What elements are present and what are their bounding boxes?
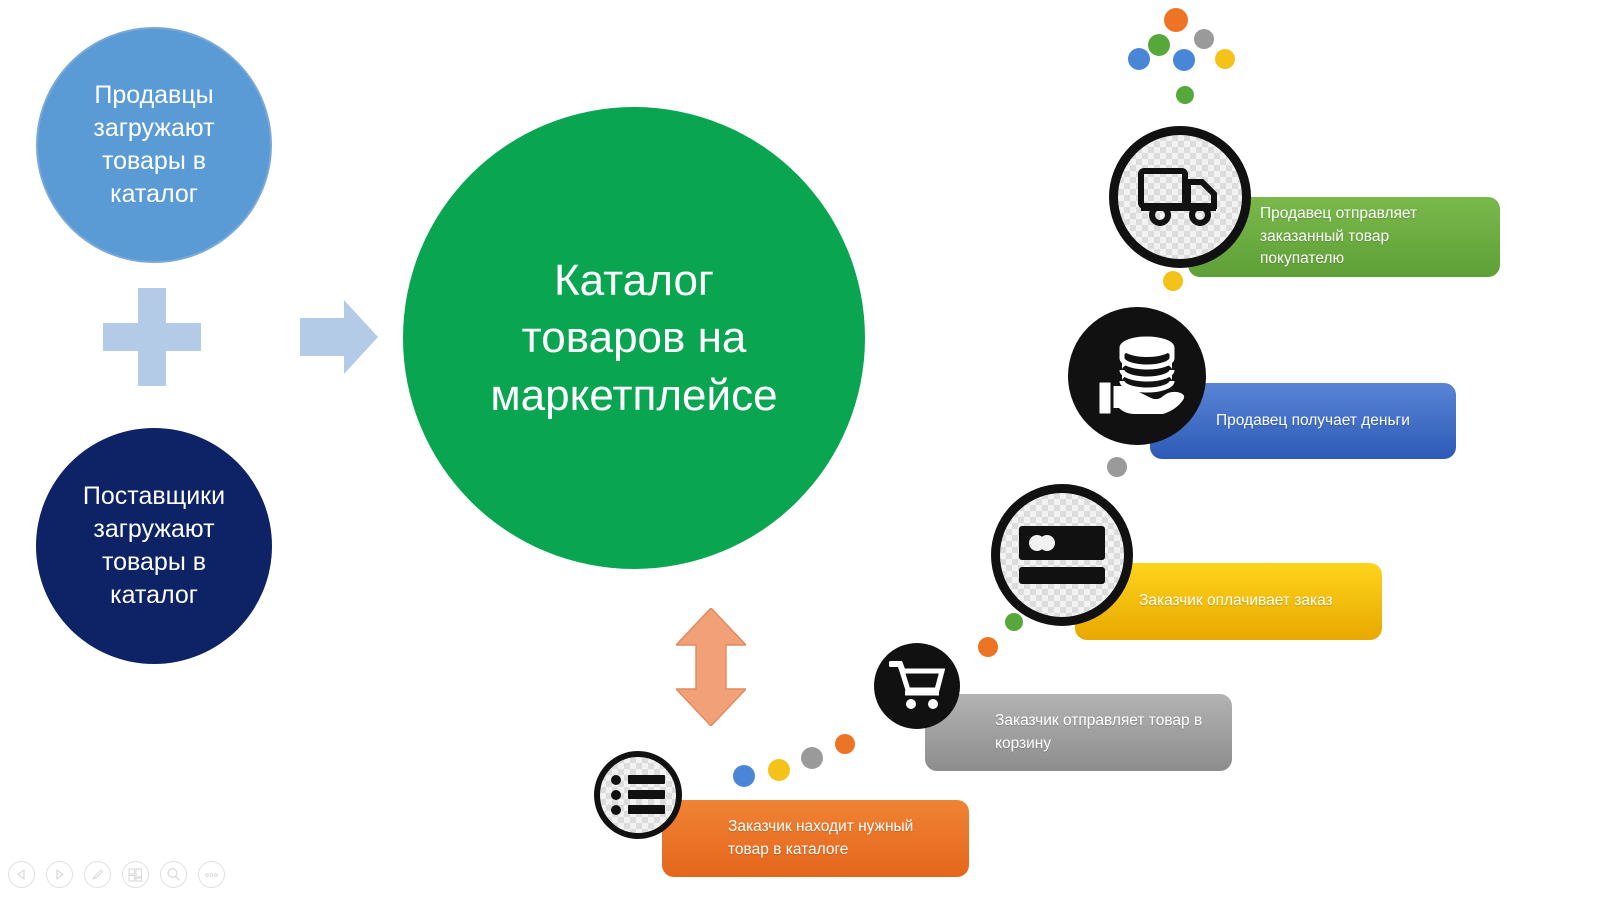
magnifier-icon bbox=[166, 867, 181, 882]
decorative-dot bbox=[1164, 8, 1188, 32]
presentation-toolbar bbox=[8, 861, 225, 888]
input-circle-sellers-label: Продавцы загружают товары в каталог bbox=[59, 79, 249, 212]
decorative-dot bbox=[768, 759, 790, 781]
step-pill-cart-label: Заказчик отправляет товар в корзину bbox=[925, 710, 1220, 755]
decorative-dot bbox=[978, 637, 998, 657]
step-pill-cart[interactable]: Заказчик отправляет товар в корзину bbox=[925, 694, 1232, 771]
pen-icon bbox=[90, 867, 105, 882]
delivery-truck-icon bbox=[1109, 126, 1251, 268]
hub-circle-catalog[interactable]: Каталог товаров на маркетплейсе bbox=[403, 107, 865, 569]
credit-card-icon bbox=[991, 484, 1133, 626]
next-slide-button[interactable] bbox=[46, 861, 73, 888]
decorative-dot bbox=[835, 734, 855, 754]
zoom-button[interactable] bbox=[160, 861, 187, 888]
bulleted-list-icon bbox=[594, 751, 682, 839]
chevron-right-icon bbox=[53, 868, 66, 881]
arrow-right-icon bbox=[300, 300, 378, 374]
decorative-dot bbox=[1176, 86, 1194, 104]
decorative-dot bbox=[1173, 49, 1195, 71]
input-circle-suppliers-label: Поставщики загружают товары в каталог bbox=[57, 480, 251, 613]
chevron-left-icon bbox=[15, 868, 28, 881]
step-pill-find[interactable]: Заказчик находит нужный товар в каталоге bbox=[662, 800, 969, 877]
hub-circle-label: Каталог товаров на маркетплейсе bbox=[454, 252, 814, 424]
grid-layout-icon bbox=[128, 868, 143, 882]
decorative-dot bbox=[733, 765, 755, 787]
decorative-dot bbox=[1194, 29, 1214, 49]
decorative-dot bbox=[1107, 457, 1127, 477]
pen-tool-button[interactable] bbox=[84, 861, 111, 888]
ellipsis-icon bbox=[204, 872, 219, 878]
decorative-dot bbox=[1128, 48, 1150, 70]
hand-with-coins-icon bbox=[1068, 307, 1206, 445]
previous-slide-button[interactable] bbox=[8, 861, 35, 888]
decorative-dot bbox=[1148, 34, 1170, 56]
slide-grid-button[interactable] bbox=[122, 861, 149, 888]
plus-icon bbox=[103, 288, 201, 386]
input-circle-suppliers[interactable]: Поставщики загружают товары в каталог bbox=[36, 428, 272, 664]
step-pill-find-label: Заказчик находит нужный товар в каталоге bbox=[662, 816, 931, 861]
more-options-button[interactable] bbox=[198, 861, 225, 888]
decorative-dot bbox=[1163, 271, 1183, 291]
decorative-dot bbox=[1005, 613, 1023, 631]
decorative-dot bbox=[1215, 49, 1235, 69]
decorative-dot bbox=[801, 747, 823, 769]
shopping-cart-icon bbox=[874, 643, 960, 729]
input-circle-sellers[interactable]: Продавцы загружают товары в каталог bbox=[36, 27, 272, 263]
presentation-slide: Продавцы загружают товары в каталог Пост… bbox=[0, 0, 1600, 900]
arrow-up-down-icon bbox=[676, 608, 746, 726]
